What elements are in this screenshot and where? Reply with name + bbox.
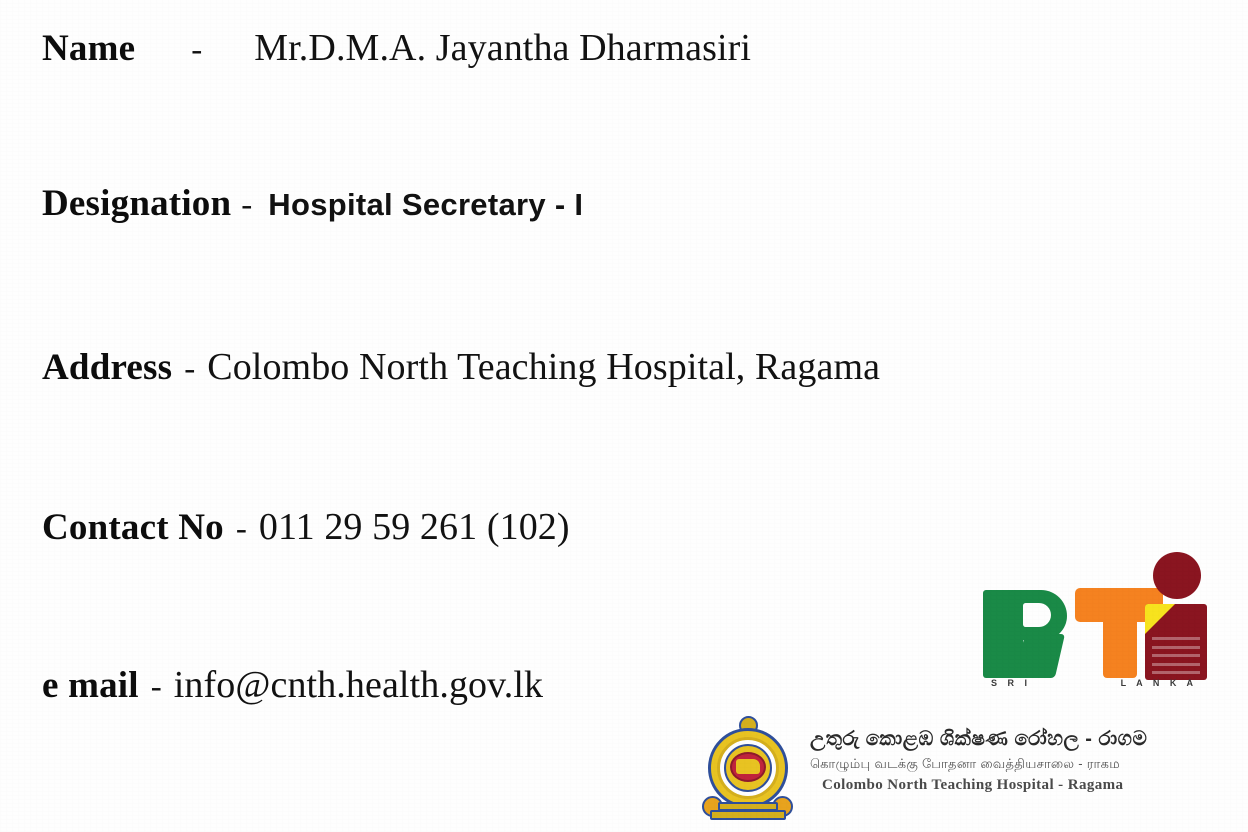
rti-sublabels: S R I L A N K A [977, 678, 1205, 688]
field-value-name: Mr.D.M.A. Jayantha Dharmasiri [254, 26, 751, 70]
rti-r-bowl-hole [1023, 603, 1051, 627]
hospital-name-sinhala: උතුරු කොළඹ ශික්ෂණ රෝහල - රාගම [810, 728, 1147, 751]
rti-sublabel-sri: S R I [991, 678, 1031, 688]
field-separator-designation: - [241, 187, 252, 224]
field-value-contact: 011 29 59 261 (102) [259, 505, 570, 549]
field-row-email: e mail - info@cnth.health.gov.lk [42, 663, 543, 707]
hospital-name-english: Colombo North Teaching Hospital - Ragama [822, 777, 1147, 794]
field-value-designation: Hospital Secretary - I [268, 187, 583, 223]
hospital-name-block: උතුරු කොළඹ ශික්ෂණ රෝහල - රාගම கொழும்பு வ… [810, 714, 1147, 794]
rti-letter-r-icon [983, 590, 1067, 678]
field-row-contact: Contact No - 011 29 59 261 (102) [42, 505, 570, 549]
field-label-name: Name [42, 27, 135, 70]
field-separator-email: - [151, 669, 162, 706]
document-line [1152, 654, 1200, 657]
rti-r-leg [1015, 634, 1065, 678]
rti-letter-i-icon [1143, 552, 1209, 680]
hospital-footer: උතුරු කොළඹ ශික්ෂණ රෝහල - රාගම கொழும்பு வ… [700, 714, 1240, 832]
document-line [1152, 671, 1200, 674]
field-label-contact: Contact No [42, 506, 224, 549]
field-label-address: Address [42, 346, 172, 389]
rti-t-stem [1103, 616, 1137, 678]
field-label-designation: Designation [42, 182, 231, 225]
field-separator-name: - [191, 32, 202, 69]
field-row-address: Address - Colombo North Teaching Hospita… [42, 345, 880, 389]
rti-i-dot [1153, 552, 1201, 599]
field-separator-address: - [184, 351, 195, 388]
sri-lanka-government-emblem-icon [700, 714, 796, 826]
document-line [1152, 637, 1200, 640]
rti-sublabel-lanka: L A N K A [1121, 678, 1197, 688]
document-sheet: Name - Mr.D.M.A. Jayantha Dharmasiri Des… [0, 0, 1248, 832]
field-row-designation: Designation - Hospital Secretary - I [42, 182, 583, 225]
document-line [1152, 663, 1200, 666]
field-value-email: info@cnth.health.gov.lk [174, 663, 543, 707]
document-text-lines [1152, 637, 1200, 674]
rti-sri-lanka-logo: S R I L A N K A [975, 552, 1207, 702]
field-separator-contact: - [236, 511, 247, 548]
document-line [1152, 646, 1200, 649]
hospital-name-tamil: கொழும்பு வடக்கு போதனா வைத்தியசாலை - ராகம [810, 756, 1147, 773]
field-label-email: e mail [42, 664, 139, 707]
emblem-foot [710, 810, 786, 820]
field-value-address: Colombo North Teaching Hospital, Ragama [207, 345, 880, 389]
document-icon [1145, 604, 1207, 680]
field-row-name: Name - Mr.D.M.A. Jayantha Dharmasiri [42, 26, 751, 70]
emblem-lion-icon [736, 759, 760, 774]
page-fold-corner-icon [1145, 604, 1175, 634]
rti-letters [975, 552, 1207, 680]
